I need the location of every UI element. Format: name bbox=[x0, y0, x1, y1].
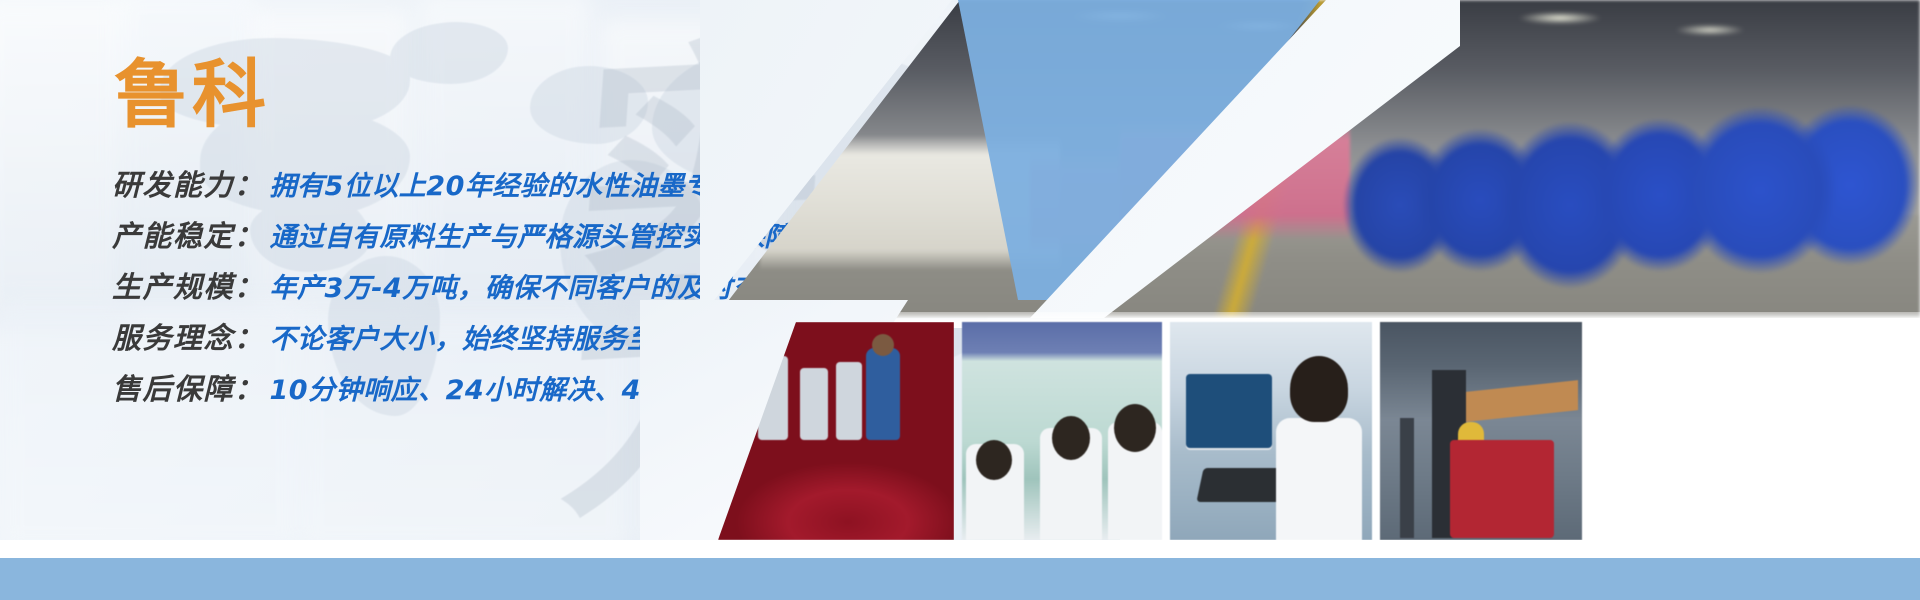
tank-shape bbox=[836, 362, 862, 440]
photo-collage bbox=[700, 0, 1920, 540]
person-head bbox=[1052, 416, 1090, 460]
feature-value: 不论客户大小，始终坚持服务至上 bbox=[270, 314, 683, 365]
person-head bbox=[976, 440, 1012, 480]
thumbnail-forklift-loading bbox=[1380, 322, 1582, 540]
feature-label: 服务理念： bbox=[112, 313, 265, 364]
feature-value: 拥有5位以上20年经验的水性油墨专家 bbox=[270, 161, 740, 212]
map-landmass bbox=[390, 22, 508, 84]
person-head bbox=[1114, 404, 1156, 452]
thumbnail-image bbox=[1590, 322, 1920, 540]
tank-shape bbox=[758, 356, 788, 440]
thumbnail-laboratory bbox=[962, 322, 1162, 540]
feature-label: 生产规模： bbox=[112, 262, 265, 313]
monitor-shape bbox=[1186, 374, 1272, 448]
thumbnail-office-service bbox=[1170, 322, 1372, 540]
map-landmass bbox=[530, 66, 648, 144]
feature-label: 售后保障： bbox=[112, 364, 265, 415]
safety-helmet bbox=[1458, 422, 1484, 440]
tank-shape bbox=[800, 368, 828, 440]
feature-label: 研发能力： bbox=[112, 160, 265, 211]
thumbnail-mixing-tank bbox=[718, 322, 954, 540]
forklift-mast bbox=[1400, 418, 1414, 538]
feature-label: 产能稳定： bbox=[112, 211, 265, 262]
thumbnail-strip bbox=[700, 322, 1920, 540]
promo-banner: 实力 鲁科 研发能力： 拥有5位以上20年经验的水性油墨专家 产能稳定： 通过自… bbox=[0, 0, 1920, 600]
forklift-body bbox=[1450, 440, 1554, 538]
person-head bbox=[1290, 356, 1348, 422]
worker-head bbox=[872, 334, 894, 356]
person-body bbox=[1276, 418, 1362, 540]
thumbnail-blank bbox=[1590, 322, 1920, 540]
worker-figure bbox=[866, 348, 900, 440]
bottom-spacer bbox=[0, 540, 1920, 558]
bottom-accent-bar bbox=[0, 558, 1920, 600]
brand-logo: 鲁科 bbox=[114, 58, 270, 132]
